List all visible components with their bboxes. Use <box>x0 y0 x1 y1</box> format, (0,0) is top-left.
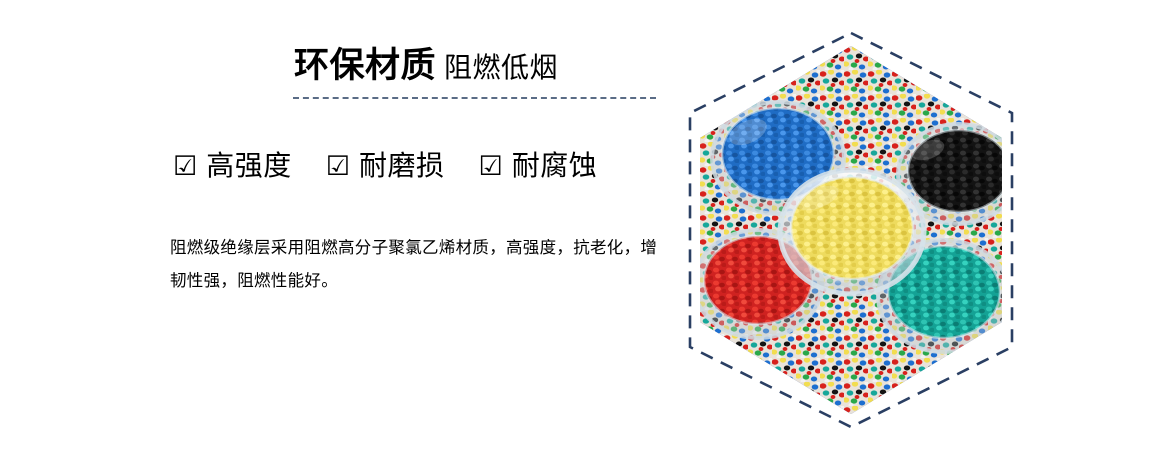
title-main-text: 环保材质 <box>294 48 436 83</box>
feature-label-3: 耐腐蚀 <box>512 152 598 180</box>
page-title: 环保材质 阻燃低烟 <box>294 48 558 83</box>
feature-label-2: 耐磨损 <box>359 152 445 180</box>
text-panel: 环保材质 阻燃低烟 ☑ 高强度 ☑ 耐磨损 ☑ 耐腐蚀 阻燃级绝缘层采用阻燃高分… <box>0 0 690 452</box>
checkbox-checked-icon: ☑ <box>478 153 502 180</box>
description-paragraph: 阻燃级绝缘层采用阻燃高分子聚氯乙烯材质，高强度，抗老化，增韧性强，阻燃性能好。 <box>170 232 670 298</box>
checkbox-checked-icon: ☑ <box>173 153 197 180</box>
title-sub-text: 阻燃低烟 <box>444 54 558 82</box>
feature-item-2: ☑ 耐磨损 <box>326 152 445 180</box>
feature-item-3: ☑ 耐腐蚀 <box>478 152 597 180</box>
feature-list: ☑ 高强度 ☑ 耐磨损 ☑ 耐腐蚀 <box>173 152 597 180</box>
title-dashed-divider <box>293 97 656 99</box>
banner-root: 环保材质 阻燃低烟 ☑ 高强度 ☑ 耐磨损 ☑ 耐腐蚀 阻燃级绝缘层采用阻燃高分… <box>0 0 1169 452</box>
hexagon-graphic <box>687 30 1015 430</box>
feature-item-1: ☑ 高强度 <box>173 152 292 180</box>
checkbox-checked-icon: ☑ <box>326 153 350 180</box>
feature-label-1: 高强度 <box>206 152 292 180</box>
